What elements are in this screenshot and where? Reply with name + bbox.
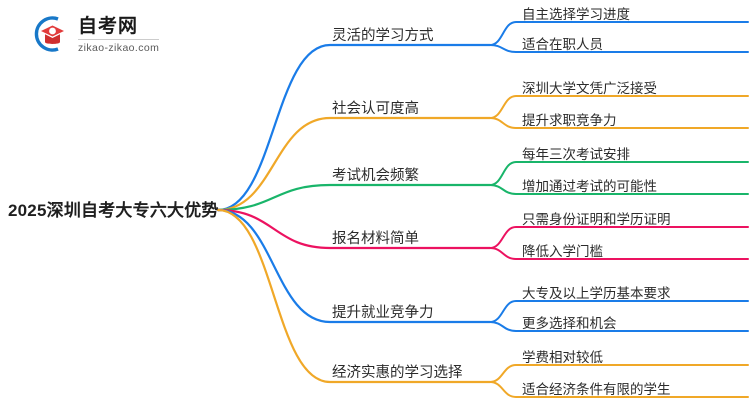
leaf-node-label[interactable]: 学费相对较低 [522, 346, 603, 366]
leaf-node-label[interactable]: 增加通过考试的可能性 [522, 175, 657, 195]
leaf-node-label[interactable]: 自主选择学习进度 [522, 3, 630, 23]
leaf-node-label[interactable]: 深圳大学文凭广泛接受 [522, 77, 657, 97]
branch-node-label[interactable]: 灵活的学习方式 [332, 24, 434, 45]
leaf-node-label[interactable]: 大专及以上学历基本要求 [522, 282, 671, 302]
branch-node-label[interactable]: 报名材料简单 [332, 227, 419, 248]
branch-node-label[interactable]: 考试机会频繁 [332, 164, 419, 185]
leaf-node-label[interactable]: 只需身份证明和学历证明 [522, 208, 671, 228]
leaf-node-label[interactable]: 降低入学门槛 [522, 240, 603, 260]
leaf-node-label[interactable]: 适合在职人员 [522, 33, 603, 53]
leaf-node-label[interactable]: 提升求职竞争力 [522, 109, 617, 129]
leaf-node-label[interactable]: 每年三次考试安排 [522, 143, 630, 163]
branch-node-label[interactable]: 提升就业竞争力 [332, 301, 434, 322]
mindmap-canvas: 自考网 zikao-zikao.com 2025深圳自考大专六大优势 自主选择学… [0, 0, 750, 410]
root-node-label: 2025深圳自考大专六大优势 [8, 196, 219, 221]
branch-node-label[interactable]: 经济实惠的学习选择 [332, 361, 463, 382]
leaf-node-label[interactable]: 更多选择和机会 [522, 312, 617, 332]
branch-node-label[interactable]: 社会认可度高 [332, 97, 419, 118]
leaf-node-label[interactable]: 适合经济条件有限的学生 [522, 378, 671, 398]
